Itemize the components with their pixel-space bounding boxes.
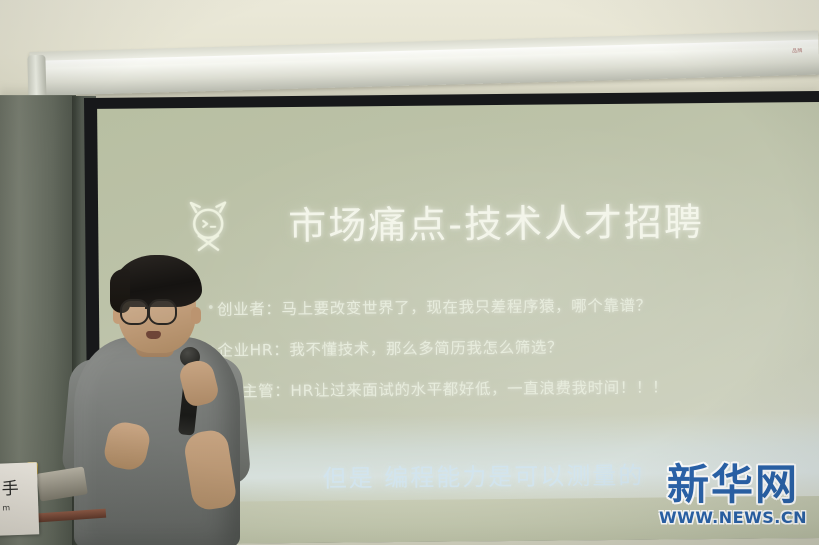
desk-placard: 手 m [0,462,39,535]
screenshot-root: 品牌 [0,0,819,545]
placard-glyph: 手 [1,481,19,499]
watermark-chinese-label: 新华网 [657,463,809,507]
speaker-figure [60,255,250,545]
bullet-text: 创业者：马上要改变世界了，现在我只差程序猿，哪个靠谱？ [217,296,652,321]
list-item: • 创业者：马上要改变世界了，现在我只差程序猿，哪个靠谱？ [207,294,807,321]
roller-brand-label: 品牌 [792,47,803,54]
bullet-text: 企业HR：我不懂技术，那么多简历我怎么筛选？ [217,337,563,361]
speaker-right-ear [191,307,201,324]
speaker-mouth [146,331,161,339]
glasses-left-lens-icon [120,299,149,325]
list-item: • 企业HR：我不懂技术，那么多简历我怎么筛选？ [207,335,807,362]
xinhua-watermark: 新华网 WWW.NEWS.CN [657,463,809,529]
slide-bullet-list: • 创业者：马上要改变世界了，现在我只差程序猿，哪个靠谱？ • 企业HR：我不懂… [207,294,808,423]
slide-kicker-text: 但是 编程能力是可以测量的 [322,456,644,494]
placard-subtext: m [2,503,10,512]
bullet-text: 技术主管：HR让过来面试的水平都好低，一直浪费我时间！！！ [210,377,669,402]
slide-title: 市场痛点-技术人才招聘 [288,191,704,250]
glasses-bridge-icon [145,307,150,309]
watermark-url-label: WWW.NEWS.CN [657,509,809,527]
horned-mascot-logo-icon [184,198,233,254]
list-item: 技术主管：HR让过来面试的水平都好低，一直浪费我时间！！！ [208,376,808,403]
glasses-right-lens-icon [148,299,177,325]
